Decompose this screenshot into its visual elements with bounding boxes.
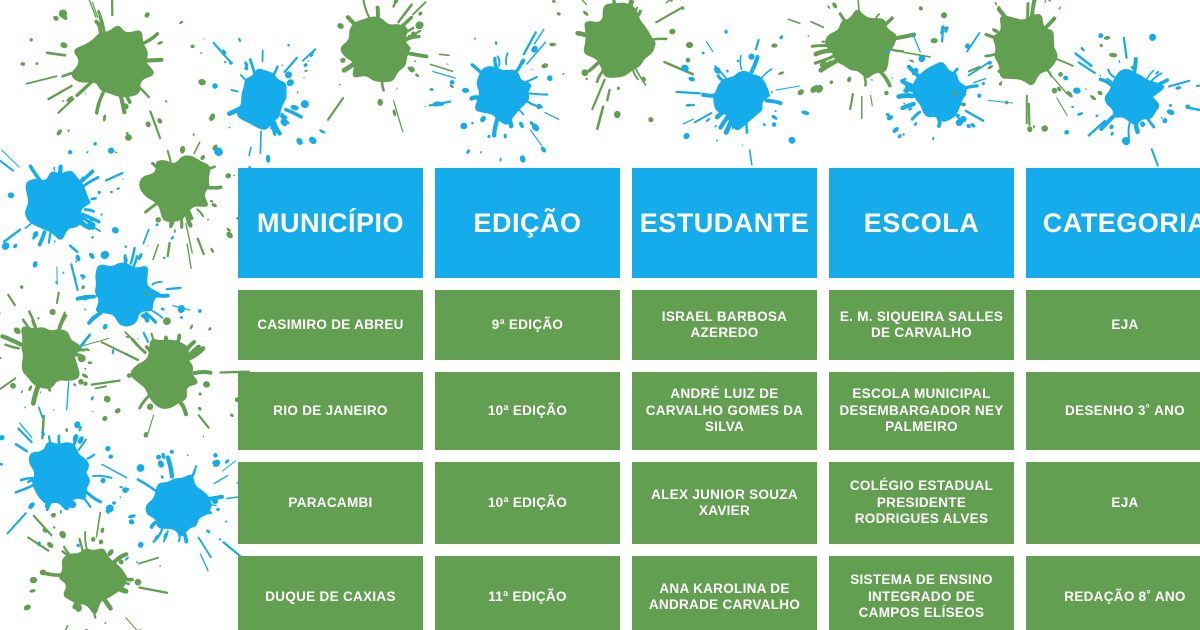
table-header-row: MUNICÍPIO EDIÇÃO ESTUDANTE ESCOLA CATEGO…	[238, 168, 1200, 278]
results-table: MUNICÍPIO EDIÇÃO ESTUDANTE ESCOLA CATEGO…	[238, 168, 1200, 630]
cell-escola: COLÉGIO ESTADUAL PRESIDENTE RODRIGUES AL…	[829, 462, 1014, 544]
cell-estudante: ANDRÉ LUIZ DE CARVALHO GOMES DA SILVA	[632, 372, 817, 450]
cell-estudante: ANA KAROLINA DE ANDRADE CARVALHO	[632, 556, 817, 630]
cell-escola: E. M. SIQUEIRA SALLES DE CARVALHO	[829, 290, 1014, 360]
cell-estudante: ALEX JUNIOR SOUZA XAVIER	[632, 462, 817, 544]
cell-categoria: EJA	[1026, 290, 1200, 360]
cell-edicao: 10ª EDIÇÃO	[435, 462, 620, 544]
cell-categoria: REDAÇÃO 8˚ ANO	[1026, 556, 1200, 630]
table-row: CASIMIRO DE ABREU 9ª EDIÇÃO ISRAEL BARBO…	[238, 290, 1200, 360]
column-header-municipio[interactable]: MUNICÍPIO	[238, 168, 423, 278]
cell-municipio: CASIMIRO DE ABREU	[238, 290, 423, 360]
poster-canvas: MUNICÍPIO EDIÇÃO ESTUDANTE ESCOLA CATEGO…	[0, 0, 1200, 630]
table-row: RIO DE JANEIRO 10ª EDIÇÃO ANDRÉ LUIZ DE …	[238, 372, 1200, 450]
cell-categoria: EJA	[1026, 462, 1200, 544]
column-header-edicao[interactable]: EDIÇÃO	[435, 168, 620, 278]
cell-edicao: 9ª EDIÇÃO	[435, 290, 620, 360]
cell-categoria: DESENHO 3˚ ANO	[1026, 372, 1200, 450]
cell-municipio: DUQUE DE CAXIAS	[238, 556, 423, 630]
cell-estudante: ISRAEL BARBOSA AZEREDO	[632, 290, 817, 360]
cell-escola: SISTEMA DE ENSINO INTEGRADO DE CAMPOS EL…	[829, 556, 1014, 630]
column-header-categoria[interactable]: CATEGORIA	[1026, 168, 1200, 278]
table-row: PARACAMBI 10ª EDIÇÃO ALEX JUNIOR SOUZA X…	[238, 462, 1200, 544]
column-header-escola[interactable]: ESCOLA	[829, 168, 1014, 278]
cell-municipio: RIO DE JANEIRO	[238, 372, 423, 450]
column-header-estudante[interactable]: ESTUDANTE	[632, 168, 817, 278]
cell-edicao: 10ª EDIÇÃO	[435, 372, 620, 450]
cell-edicao: 11ª EDIÇÃO	[435, 556, 620, 630]
cell-municipio: PARACAMBI	[238, 462, 423, 544]
cell-escola: ESCOLA MUNICIPAL DESEMBARGADOR NEY PALME…	[829, 372, 1014, 450]
table-row: DUQUE DE CAXIAS 11ª EDIÇÃO ANA KAROLINA …	[238, 556, 1200, 630]
